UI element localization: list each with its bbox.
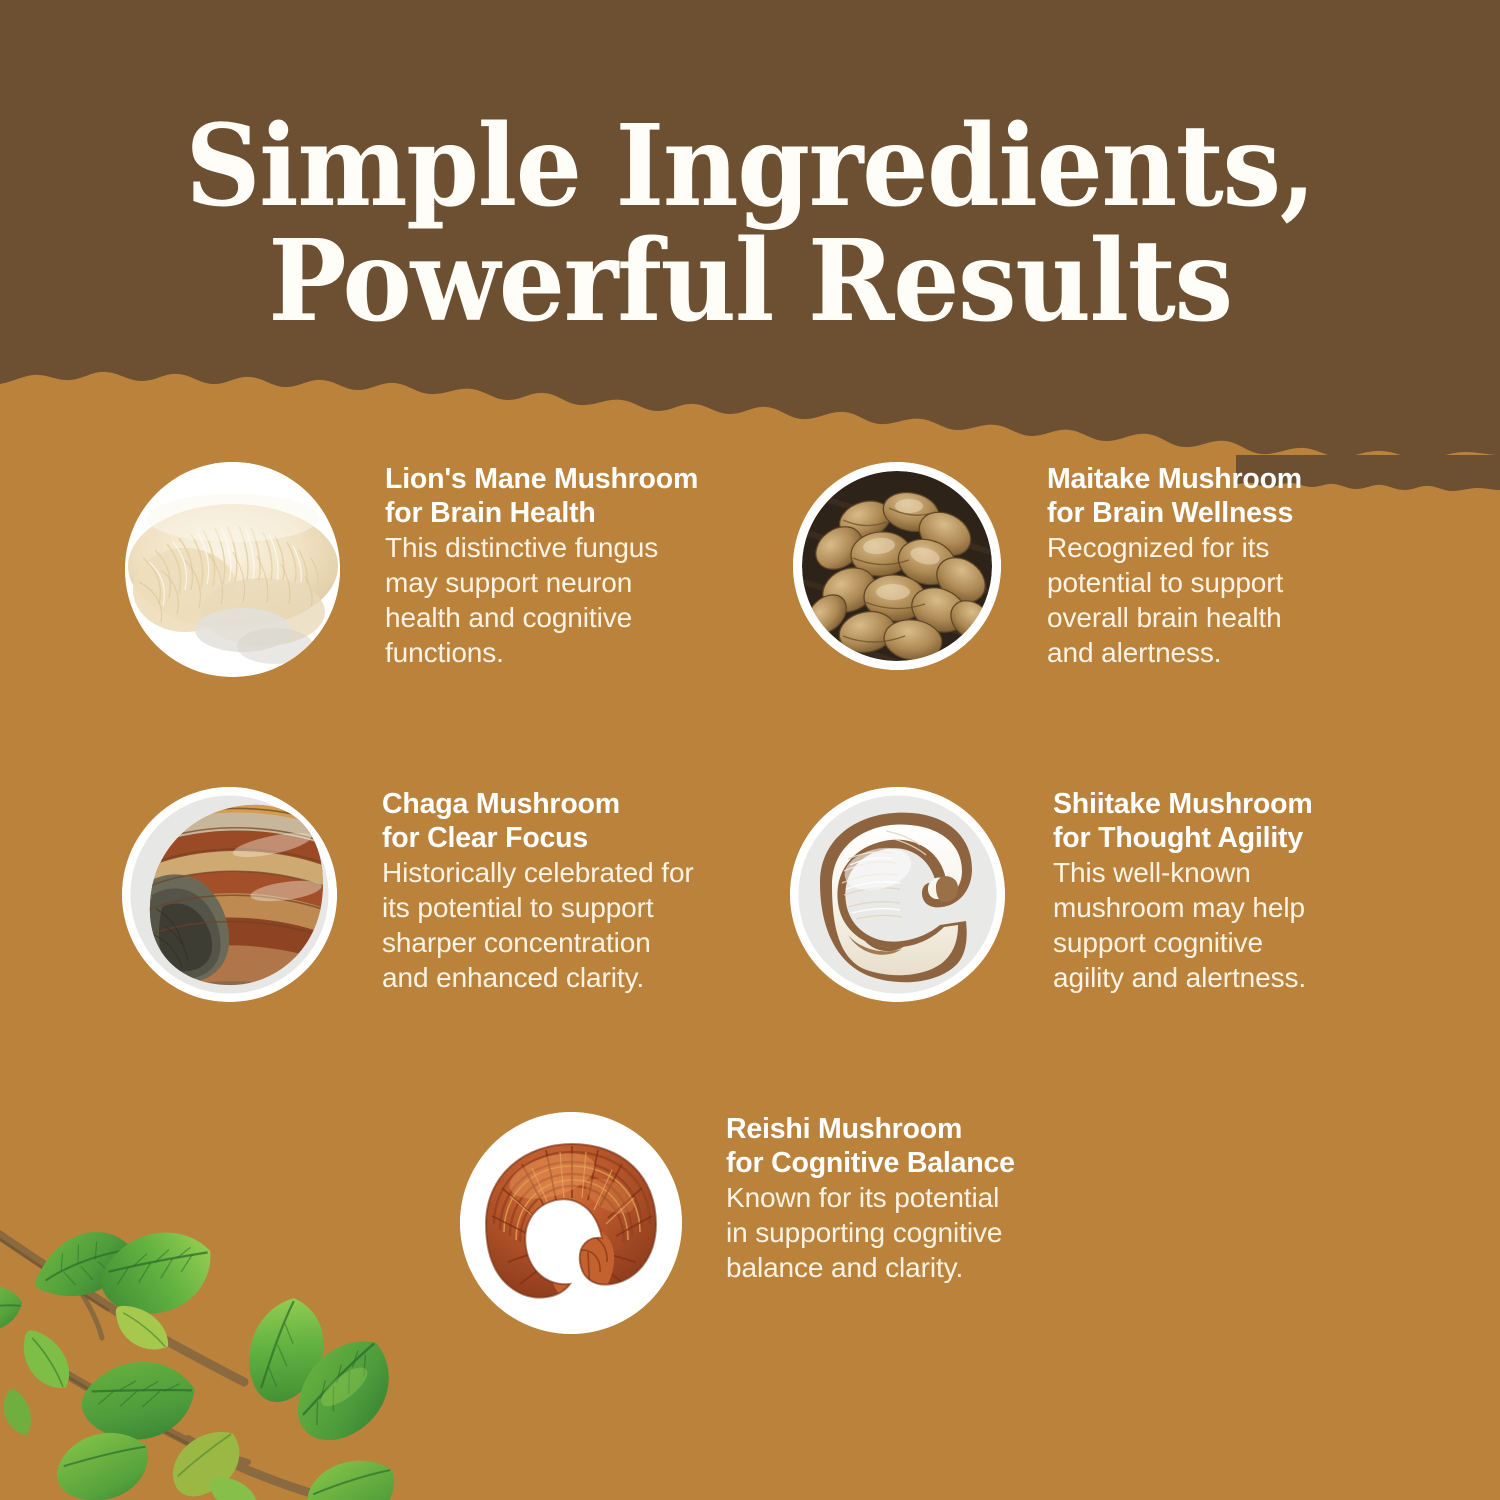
lions-mane-mushroom-photo — [125, 462, 340, 677]
ingredient-card-shiitake: Shiitake Mushroom for Thought Agility Th… — [790, 787, 1363, 1002]
reishi-mushroom-photo — [460, 1112, 682, 1334]
ingredient-card-lions-mane: Lion's Mane Mushroom for Brain Health Th… — [125, 462, 745, 677]
reishi-body: Known for its potential in supporting co… — [726, 1181, 1076, 1285]
ingredient-card-reishi: Reishi Mushroom for Cognitive Balance Kn… — [460, 1112, 1076, 1334]
reishi-text-block: Reishi Mushroom for Cognitive Balance Kn… — [726, 1112, 1076, 1286]
chaga-body: Historically celebrated for its potentia… — [382, 856, 747, 995]
maitake-heading: Maitake Mushroom for Brain Wellness — [1047, 462, 1357, 530]
maitake-body: Recognized for its potential to support … — [1047, 531, 1357, 670]
page-title-line-2: Powerful Results — [53, 227, 1448, 338]
page-title-block: Simple Ingredients, Powerful Results — [0, 112, 1500, 338]
lions-mane-heading: Lion's Mane Mushroom for Brain Health — [385, 462, 745, 530]
shiitake-heading: Shiitake Mushroom for Thought Agility — [1053, 787, 1363, 855]
reishi-heading: Reishi Mushroom for Cognitive Balance — [726, 1112, 1076, 1180]
green-leaf-branch-illustration — [0, 1210, 452, 1500]
maitake-text-block: Maitake Mushroom for Brain Wellness Reco… — [1047, 462, 1357, 670]
shiitake-mushroom-photo — [790, 787, 1005, 1002]
lions-mane-body: This distinctive fungus may support neur… — [385, 531, 745, 670]
lions-mane-text-block: Lion's Mane Mushroom for Brain Health Th… — [385, 462, 745, 670]
chaga-heading: Chaga Mushroom for Clear Focus — [382, 787, 747, 855]
infographic-canvas: Simple Ingredients, Powerful Results — [0, 0, 1500, 1500]
shiitake-body: This well-known mushroom may help suppor… — [1053, 856, 1363, 995]
ingredient-card-chaga: Chaga Mushroom for Clear Focus Historica… — [122, 787, 747, 1002]
ingredient-card-maitake: Maitake Mushroom for Brain Wellness Reco… — [793, 462, 1357, 670]
shiitake-text-block: Shiitake Mushroom for Thought Agility Th… — [1053, 787, 1363, 995]
chaga-text-block: Chaga Mushroom for Clear Focus Historica… — [382, 787, 747, 995]
page-title-line-1: Simple Ingredients, — [53, 112, 1448, 223]
maitake-mushroom-photo — [793, 462, 1001, 670]
chaga-mushroom-photo — [122, 787, 337, 1002]
